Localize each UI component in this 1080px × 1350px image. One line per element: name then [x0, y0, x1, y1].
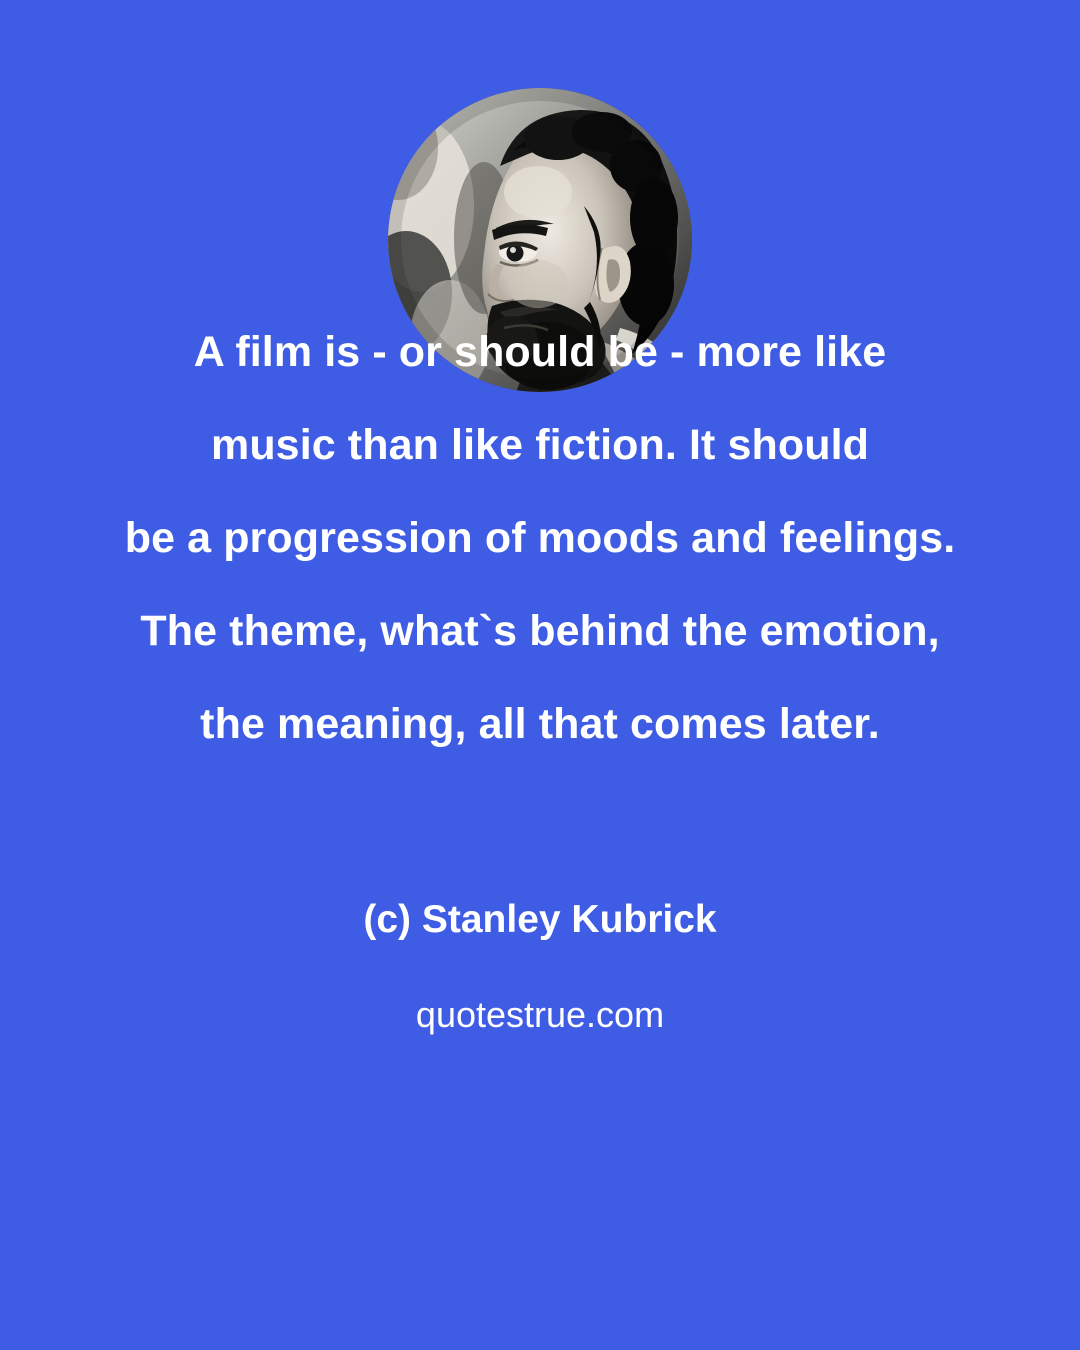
quote-text: A film is - or should be - more like mus… [0, 306, 1080, 771]
quote-line: The theme, what`s behind the emotion, [78, 585, 1002, 678]
quote-line: music than like fiction. It should [78, 399, 1002, 492]
quote-line: be a progression of moods and feelings. [78, 492, 1002, 585]
quote-line: A film is - or should be - more like [78, 306, 1002, 399]
quote-line: the meaning, all that comes later. [78, 678, 1002, 771]
source-website: quotestrue.com [0, 988, 1080, 1042]
quote-card: A film is - or should be - more like mus… [0, 0, 1080, 1350]
quote-attribution: (c) Stanley Kubrick [0, 892, 1080, 948]
